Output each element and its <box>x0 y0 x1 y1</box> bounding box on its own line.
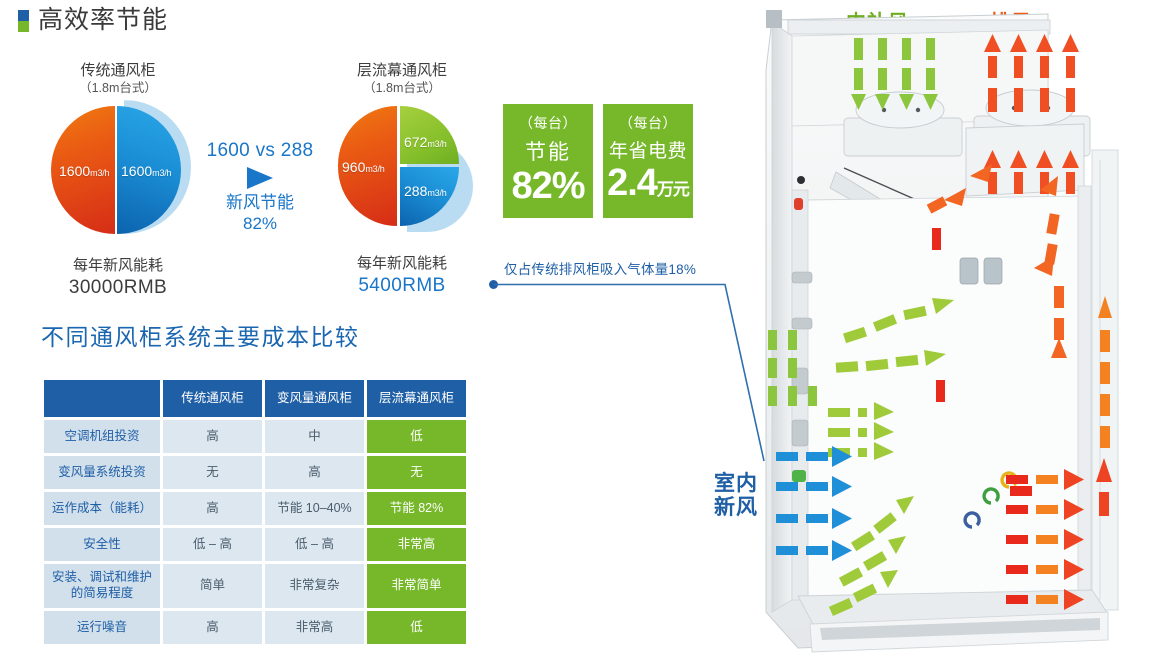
badge-1-value: 82% <box>511 167 584 205</box>
row-label: 运作成本（能耗） <box>44 492 160 525</box>
row-cell: 无 <box>163 456 262 489</box>
table-row: 运作成本（能耗） 高 节能 10–40% 节能 82% <box>44 492 466 525</box>
pie-chart-left: 1600m3/h 1600m3/h <box>51 106 185 234</box>
cost-comparison-table: 传统通风柜 变风量通风柜 层流幕通风柜 空调机组投资 高 中 低 变风量系统投资… <box>41 377 469 647</box>
row-cell: 中 <box>265 420 364 453</box>
row-cell: 节能 10–40% <box>265 492 364 525</box>
header-marker-icon <box>18 10 29 32</box>
comparison-headline: 1600 vs 288 <box>196 140 324 162</box>
row-cell-highlight: 非常简单 <box>367 564 466 608</box>
chart-left-caption: 传统通风柜 （1.8m台式） <box>28 62 208 96</box>
badge-1-top: （每台） <box>519 113 577 133</box>
badge-annual-savings: （每台） 年省电费 2.4万元 <box>603 104 693 218</box>
row-cell-highlight: 节能 82% <box>367 492 466 525</box>
table-header-vav: 变风量通风柜 <box>265 380 364 417</box>
page-title: 高效率节能 <box>38 8 168 33</box>
infographic-page: 高效率节能 传统通风柜 （1.8m台式） 1600m3/h 1600m3/h 每… <box>0 0 1149 660</box>
table-row: 变风量系统投资 无 高 无 <box>44 456 466 489</box>
chart-traditional-hood: 传统通风柜 （1.8m台式） 1600m3/h 1600m3/h 每年新风能耗 … <box>28 62 208 301</box>
badge-2-mid: 年省电费 <box>609 136 687 163</box>
badge-2-value: 2.4万元 <box>607 164 689 202</box>
row-cell-highlight: 低 <box>367 611 466 644</box>
chart-right-caption: 层流幕通风柜 （1.8m台式） <box>312 62 492 96</box>
row-cell: 高 <box>163 420 262 453</box>
row-cell: 高 <box>163 492 262 525</box>
pie-right-label-exhaust: 960m3/h <box>342 160 385 174</box>
pie-right-label-room-air: 288m3/h <box>404 184 447 198</box>
table-row: 安装、调试和维护的简易程度 简单 非常复杂 非常简单 <box>44 564 466 608</box>
pie-left-label-exhaust: 1600m3/h <box>59 164 109 178</box>
row-label: 空调机组投资 <box>44 420 160 453</box>
fume-hood-illustration <box>748 0 1149 660</box>
table-row: 安全性 低 – 高 低 – 高 非常高 <box>44 528 466 561</box>
row-cell: 非常复杂 <box>265 564 364 608</box>
row-cell: 低 – 高 <box>163 528 262 561</box>
pie-left-label-supply: 1600m3/h <box>121 164 171 178</box>
badge-1-mid: 节能 <box>525 136 571 166</box>
row-cell-highlight: 低 <box>367 420 466 453</box>
badge-2-top: （每台） <box>619 113 677 133</box>
table-header-row: 传统通风柜 变风量通风柜 层流幕通风柜 <box>44 380 466 417</box>
row-cell: 高 <box>163 611 262 644</box>
row-cell: 高 <box>265 456 364 489</box>
right-arrow-icon <box>247 167 273 189</box>
pie-right-label-inner-supply: 672m3/h <box>404 135 447 149</box>
table-header-traditional: 传统通风柜 <box>163 380 262 417</box>
page-header: 高效率节能 <box>18 8 168 33</box>
row-cell: 简单 <box>163 564 262 608</box>
row-label: 运行噪音 <box>44 611 160 644</box>
table-section-title: 不同通风柜系统主要成本比较 <box>41 318 360 352</box>
table-row: 运行噪音 高 非常高 低 <box>44 611 466 644</box>
row-label: 安装、调试和维护的简易程度 <box>44 564 160 608</box>
callout-dot-icon <box>489 280 498 289</box>
chart-right-footer: 每年新风能耗 5400RMB <box>312 254 492 298</box>
chart-laminar-hood: 层流幕通风柜 （1.8m台式） 960m3/h 672m3/h 288m3/h … <box>312 62 492 299</box>
badge-energy-saving: （每台） 节能 82% <box>503 104 593 218</box>
row-cell-highlight: 无 <box>367 456 466 489</box>
callout-label: 仅占传统排风柜吸入气体量18% <box>504 258 696 278</box>
row-cell: 非常高 <box>265 611 364 644</box>
table-header-blank <box>44 380 160 417</box>
comparison-saving-value: 82% <box>196 213 324 234</box>
comparison-callout: 1600 vs 288 新风节能 82% <box>196 140 324 235</box>
row-cell: 低 – 高 <box>265 528 364 561</box>
row-label: 变风量系统投资 <box>44 456 160 489</box>
comparison-saving-label: 新风节能 <box>196 192 324 213</box>
table-row: 空调机组投资 高 中 低 <box>44 420 466 453</box>
pie-chart-right: 960m3/h 672m3/h 288m3/h <box>338 106 466 226</box>
table-header-laminar: 层流幕通风柜 <box>367 380 466 417</box>
row-label: 安全性 <box>44 528 160 561</box>
row-cell-highlight: 非常高 <box>367 528 466 561</box>
chart-left-footer: 每年新风能耗 30000RMB <box>28 256 208 300</box>
